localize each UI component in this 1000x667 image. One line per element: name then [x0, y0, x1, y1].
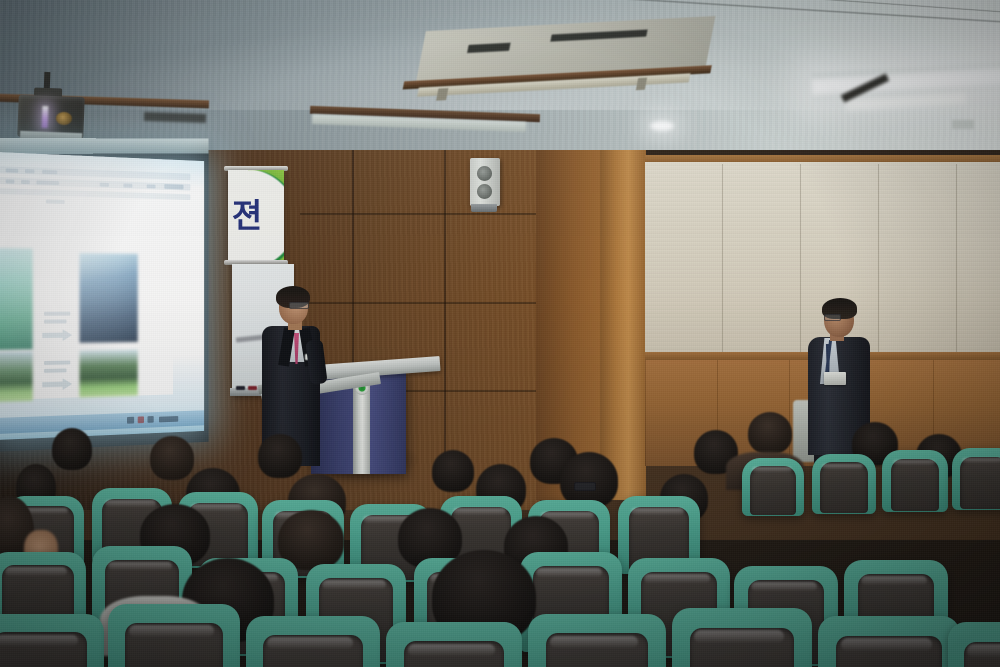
wall-panel-joint — [300, 213, 545, 215]
auditorium-seat[interactable] — [882, 450, 948, 512]
acoustic-panel-seam — [800, 164, 801, 352]
seat-highlight — [5, 567, 66, 576]
seat-highlight — [644, 574, 709, 583]
audience-head — [748, 412, 792, 454]
auditorium-seat[interactable] — [952, 448, 1000, 510]
seat-highlight — [105, 500, 156, 507]
slide-caption — [44, 361, 70, 365]
auditorium-seat[interactable] — [948, 622, 1000, 667]
auditorium-seat[interactable] — [812, 454, 876, 514]
auditorium-seat[interactable] — [108, 604, 240, 667]
slide-toolbar-icon — [36, 180, 59, 185]
seat-highlight — [108, 562, 172, 571]
seat-pad — [820, 462, 867, 512]
seat-highlight — [0, 635, 78, 647]
seat-pad — [960, 457, 1000, 509]
ceiling-air-diffuser — [411, 16, 716, 110]
seat-highlight — [893, 460, 935, 466]
slide-toolbar-icon — [100, 183, 109, 187]
slide-toolbar-row — [0, 188, 190, 200]
auditorium-seat[interactable] — [0, 614, 104, 667]
acoustic-panel-texture — [645, 162, 1000, 354]
wall-speaker-base — [471, 204, 497, 212]
slide-caption — [44, 368, 67, 372]
seat-highlight — [129, 625, 213, 637]
banner-text: 젼 — [230, 196, 264, 236]
seating-area — [0, 400, 1000, 667]
standing-attendee-glasses-icon — [824, 314, 841, 321]
seat-highlight — [191, 504, 242, 511]
speaker-driver-icon — [477, 166, 492, 181]
slide-caption — [44, 312, 70, 316]
seat-highlight — [822, 464, 863, 469]
seat-highlight — [752, 467, 792, 472]
auditorium-seat[interactable] — [742, 458, 804, 516]
slide-toolbar-icon — [25, 169, 35, 173]
slide-image-bottom-right — [80, 350, 138, 398]
acoustic-panel-seam — [722, 164, 723, 352]
seat-highlight — [962, 458, 1000, 464]
wall-panel-joint — [300, 302, 545, 304]
hanging-banner: 젼 — [228, 170, 284, 262]
slide-image-top-right — [80, 253, 138, 343]
acoustic-panel-seam — [878, 164, 879, 352]
projection-screen — [0, 152, 204, 440]
ceiling-slot — [144, 112, 206, 123]
seat-highlight — [408, 644, 495, 656]
seat-highlight — [967, 644, 1000, 657]
auditorium-seat[interactable] — [246, 616, 380, 667]
audience-glasses-icon — [574, 482, 596, 491]
wall-speaker — [470, 158, 500, 206]
slide-toolbar-icon — [21, 180, 30, 184]
slide-image-bottom-left — [0, 351, 33, 402]
slide-toolbar-icon — [123, 184, 132, 188]
audience-head — [52, 428, 92, 470]
standing-attendee-name-badge — [824, 372, 846, 385]
auditorium-seat[interactable] — [672, 608, 812, 667]
audience-head — [432, 450, 474, 492]
audience-head — [258, 434, 302, 478]
whiteboard-marker[interactable] — [236, 386, 245, 390]
slide-toolbar-icon — [6, 168, 19, 172]
slide-toolbar-icon — [6, 179, 15, 183]
seat-highlight — [536, 568, 601, 577]
seat-highlight — [631, 508, 683, 515]
seat-highlight — [861, 576, 928, 585]
seat-pad — [750, 466, 796, 515]
auditorium-seat[interactable] — [818, 616, 960, 667]
projection-screen-roller — [0, 138, 209, 154]
slide-toolbar-icon — [164, 184, 183, 189]
slide-toolbar-icon — [46, 199, 65, 203]
slide-toolbar-icon — [147, 184, 156, 188]
seat-pad — [891, 459, 940, 511]
ceiling-fitting — [952, 120, 974, 129]
auditorium-seat[interactable] — [528, 614, 666, 667]
recessed-downlight — [650, 121, 674, 131]
seat-highlight — [322, 580, 386, 589]
seat-highlight — [550, 636, 638, 648]
slide-toolbar-icon — [42, 170, 57, 175]
presenter-glasses-icon — [289, 302, 309, 309]
conference-hall-photo: 젼 — [0, 0, 1000, 667]
seat-highlight — [453, 508, 505, 515]
air-diffuser-bracket — [636, 78, 647, 91]
projector-indicator-light — [42, 106, 49, 128]
speaker-driver-icon — [477, 184, 492, 199]
seat-highlight — [694, 630, 784, 643]
slide-caption — [44, 319, 67, 323]
slide-image-top-left — [0, 248, 33, 350]
seat-highlight — [751, 582, 818, 591]
audience-head — [150, 436, 194, 480]
air-diffuser-bracket — [436, 88, 448, 101]
acoustic-panel-seam — [956, 164, 957, 352]
seat-highlight — [841, 638, 932, 651]
whiteboard-marker[interactable] — [248, 386, 257, 390]
auditorium-seat[interactable] — [386, 622, 522, 667]
seat-highlight — [267, 637, 353, 649]
